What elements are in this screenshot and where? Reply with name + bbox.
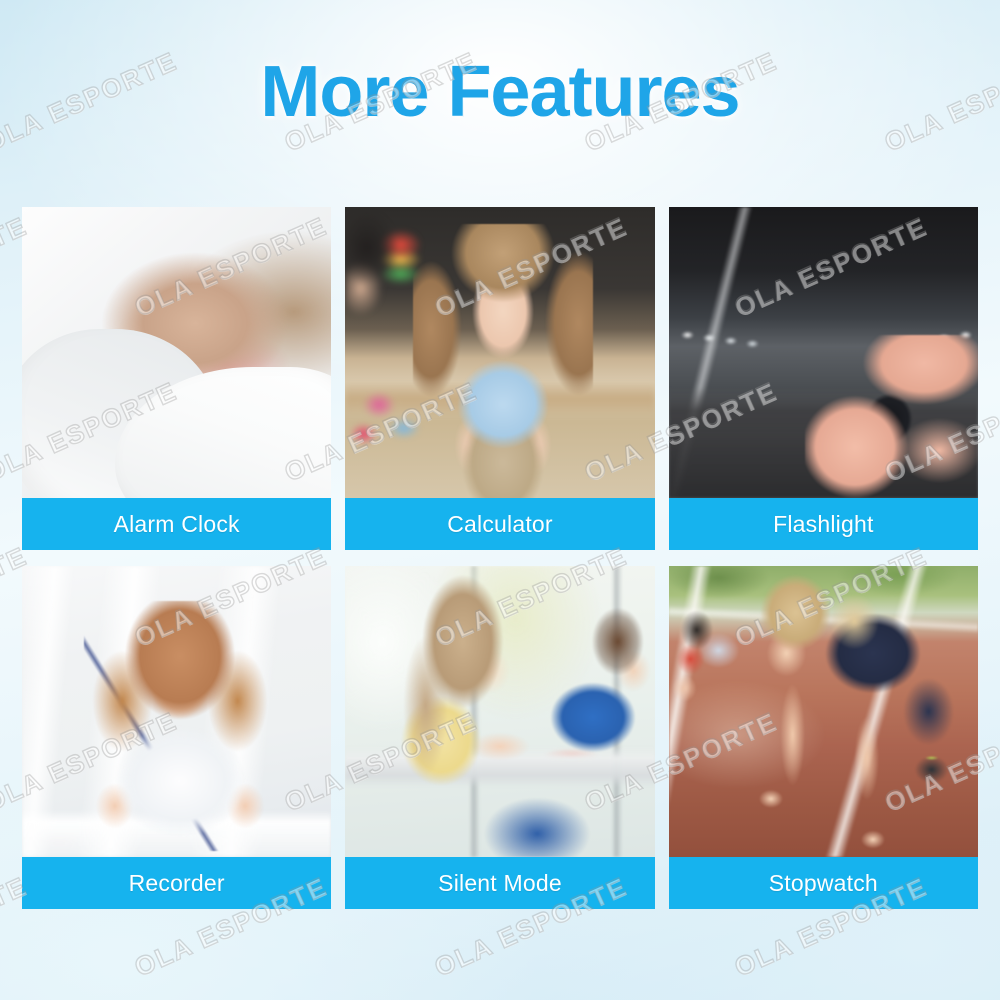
- photo-recorder: [22, 566, 331, 857]
- feature-card-recorder[interactable]: Recorder: [22, 566, 331, 909]
- photo-calculator: [345, 207, 654, 498]
- photo-stopwatch: [669, 566, 978, 857]
- feature-card-calculator[interactable]: Calculator: [345, 207, 654, 550]
- feature-label-silent-mode: Silent Mode: [345, 857, 654, 909]
- feature-label-stopwatch: Stopwatch: [669, 857, 978, 909]
- feature-card-alarm-clock[interactable]: Alarm Clock: [22, 207, 331, 550]
- feature-grid: Alarm Clock Calculator Flashlight Record…: [22, 207, 978, 909]
- feature-card-silent-mode[interactable]: Silent Mode: [345, 566, 654, 909]
- feature-label-alarm-clock: Alarm Clock: [22, 498, 331, 550]
- feature-card-flashlight[interactable]: Flashlight: [669, 207, 978, 550]
- page-title: More Features: [0, 56, 1000, 128]
- photo-flashlight: [669, 207, 978, 498]
- photo-silent-mode: [345, 566, 654, 857]
- photo-alarm-clock: [22, 207, 331, 498]
- feature-label-calculator: Calculator: [345, 498, 654, 550]
- feature-label-recorder: Recorder: [22, 857, 331, 909]
- feature-poster: More Features Alarm Clock Calculator Fla…: [0, 0, 1000, 1000]
- feature-label-flashlight: Flashlight: [669, 498, 978, 550]
- feature-card-stopwatch[interactable]: Stopwatch: [669, 566, 978, 909]
